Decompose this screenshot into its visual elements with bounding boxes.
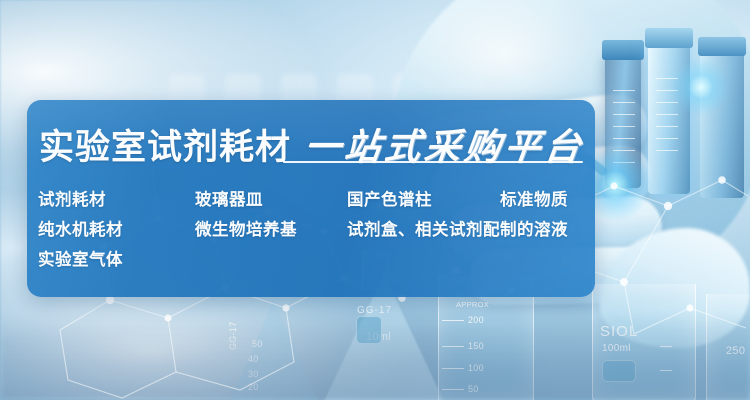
category-item-glassware[interactable]: 玻璃器皿 [195, 186, 263, 210]
category-item-reference-material[interactable]: 标准物质 [500, 186, 568, 210]
beaker-approx-label: APPROX [456, 301, 489, 309]
category-item-laboratory-gas[interactable]: 实验室气体 [38, 246, 123, 270]
category-row-3: 实验室气体 [38, 246, 594, 276]
category-list: 试剂耗材 玻璃器皿 国产色谱柱 标准物质 纯水机耗材 微生物培养基 试剂盒、相关… [38, 186, 594, 276]
category-item-reagent-kits-solutions[interactable]: 试剂盒、相关试剂配制的溶液 [347, 216, 568, 240]
title-underline [283, 161, 583, 163]
category-row-2: 纯水机耗材 微生物培养基 试剂盒、相关试剂配制的溶液 [38, 216, 594, 246]
vial-cap-icon [645, 28, 693, 48]
category-item-water-purifier-consumables[interactable]: 纯水机耗材 [38, 216, 123, 240]
scene-floor-shadow [0, 314, 750, 400]
vial-cap-icon [602, 40, 644, 60]
category-item-domestic-chromatography-column[interactable]: 国产色谱柱 [347, 186, 432, 210]
promo-banner: 250 APPROX 200 150 100 50 GG-17 10ml 50 … [0, 0, 750, 400]
title-main-text: 实验室试剂耗材 [39, 119, 291, 170]
category-item-microbial-culture-media[interactable]: 微生物培养基 [195, 216, 297, 240]
category-item-reagent-consumables[interactable]: 试剂耗材 [38, 186, 106, 210]
blue-glow-highlight [672, 58, 730, 116]
vial-cap-icon [698, 37, 746, 56]
category-row-1: 试剂耗材 玻璃器皿 国产色谱柱 标准物质 [38, 186, 594, 216]
promo-panel: 实验室试剂耗材 一站式采购平台 试剂耗材 玻璃器皿 国产色谱柱 标准物质 纯水机… [27, 100, 595, 297]
